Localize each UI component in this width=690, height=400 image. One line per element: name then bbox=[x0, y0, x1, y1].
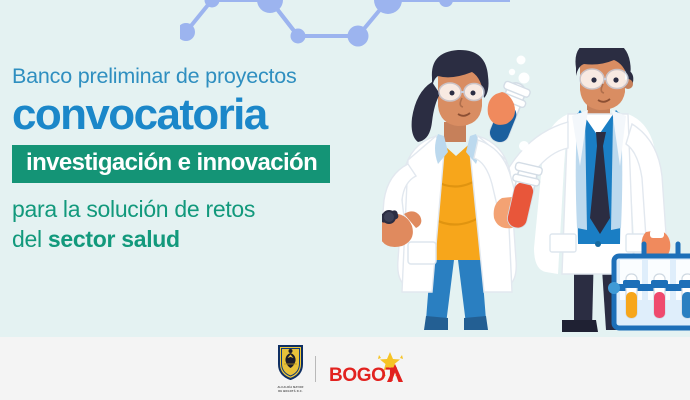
bogota-wordmark-text: BOGOT bbox=[329, 365, 397, 386]
headline-line-5-prefix: del bbox=[12, 226, 48, 252]
alcaldia-caption-line-2: DE BOGOTÁ D.C. bbox=[277, 390, 304, 394]
poster-canvas: Banco preliminar de proyectos convocator… bbox=[0, 0, 690, 400]
female-scientist bbox=[382, 50, 522, 330]
blue-flask bbox=[484, 56, 532, 147]
headline-line-1: Banco preliminar de proyectos bbox=[12, 64, 412, 89]
headline-block: Banco preliminar de proyectos convocator… bbox=[12, 64, 412, 254]
bogota-brand-logo: BOGOT bbox=[327, 351, 413, 387]
headline-highlight-band: investigación e innovación bbox=[12, 145, 330, 183]
headline-line-4: para la solución de retos bbox=[12, 195, 412, 224]
logo-divider bbox=[315, 356, 316, 382]
headline-line-5: del sector salud bbox=[12, 225, 412, 254]
alcaldia-logo: ALCALDÍA MAYOR DE BOGOTÁ D.C. bbox=[277, 344, 304, 394]
alcaldia-caption-line-1: ALCALDÍA MAYOR bbox=[277, 386, 304, 390]
headline-highlight-text: investigación e innovación bbox=[26, 149, 317, 176]
headline-line-5-bold: sector salud bbox=[48, 226, 180, 252]
footer-logo-bar: ALCALDÍA MAYOR DE BOGOTÁ D.C. BOGOT bbox=[0, 337, 690, 400]
scientists-illustration bbox=[382, 48, 690, 340]
test-tube-rack bbox=[608, 244, 690, 328]
headline-line-2: convocatoria bbox=[12, 93, 412, 137]
bogota-coat-of-arms-icon bbox=[277, 344, 304, 380]
bogota-wordmark-icon: BOGOT bbox=[327, 351, 413, 387]
